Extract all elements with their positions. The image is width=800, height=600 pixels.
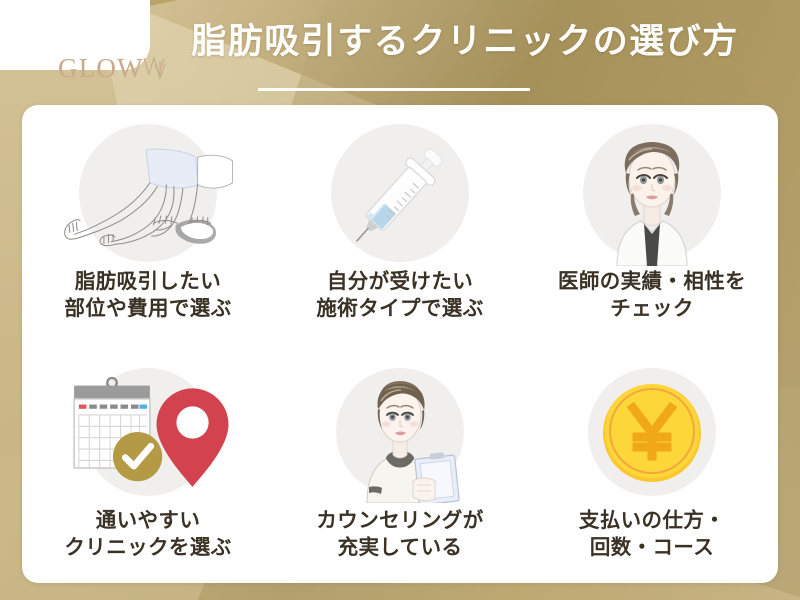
logo-monogram-icon [142, 52, 172, 82]
brand-logo: GLOW [58, 52, 172, 82]
point-icon-5 [310, 358, 490, 506]
caption-line-2: チェック [558, 296, 746, 323]
caption-line-1: 支払いの仕方・ [579, 510, 725, 532]
point-item-5: カウンセリングが 充実している [274, 344, 526, 583]
syringe-icon [325, 123, 475, 263]
point-item-1: 脂肪吸引したい 部位や費用で選ぶ [22, 105, 274, 344]
check-badge-icon [113, 432, 162, 481]
point-icon-6 [562, 358, 742, 506]
content-card: 脂肪吸引したい 部位や費用で選ぶ [22, 105, 778, 583]
point-icon-2 [310, 119, 490, 267]
page-title: 脂肪吸引するクリニックの選び方 [150, 23, 780, 62]
point-item-4: 通いやすい クリニックを選ぶ [22, 344, 274, 583]
caption-line-1: カウンセリングが [316, 510, 483, 532]
point-caption-1: 脂肪吸引したい 部位や費用で選ぶ [64, 269, 231, 323]
caption-line-2: 回数・コース [579, 535, 725, 562]
point-caption-2: 自分が受けたい 施術タイプで選ぶ [316, 269, 483, 323]
point-caption-3: 医師の実績・相性を チェック [558, 269, 746, 323]
map-pin-icon [157, 388, 229, 487]
yen-coin-icon [587, 367, 717, 497]
point-item-2: 自分が受けたい 施術タイプで選ぶ [274, 105, 526, 344]
point-icon-4 [58, 358, 238, 506]
point-item-3: 医師の実績・相性を チェック [526, 105, 778, 344]
caption-line-1: 通いやすい [96, 510, 201, 532]
caption-line-2: 施術タイプで選ぶ [316, 296, 483, 323]
caption-line-1: 自分が受けたい [327, 271, 473, 293]
logo-wordmark: GLOW [58, 55, 144, 82]
legs-illustration-icon [58, 128, 238, 258]
point-icon-3 [562, 119, 742, 267]
calendar-check-map-pin-icon [58, 362, 238, 502]
points-grid: 脂肪吸引したい 部位や費用で選ぶ [22, 105, 778, 583]
point-item-6: 支払いの仕方・ 回数・コース [526, 344, 778, 583]
caption-line-2: 部位や費用で選ぶ [64, 296, 231, 323]
caption-line-2: 充実している [316, 535, 483, 562]
point-caption-4: 通いやすい クリニックを選ぶ [64, 508, 231, 562]
nurse-with-clipboard-icon [325, 361, 475, 503]
caption-line-1: 脂肪吸引したい [75, 271, 221, 293]
point-icon-1 [58, 119, 238, 267]
caption-line-1: 医師の実績・相性を [558, 271, 746, 293]
point-caption-6: 支払いの仕方・ 回数・コース [579, 508, 725, 562]
caption-line-2: クリニックを選ぶ [64, 535, 231, 562]
title-underline [258, 88, 530, 91]
poster-root: GLOW 脂肪吸引するクリニックの選び方 [0, 0, 800, 600]
point-caption-5: カウンセリングが 充実している [316, 508, 483, 562]
female-doctor-icon [577, 120, 727, 266]
